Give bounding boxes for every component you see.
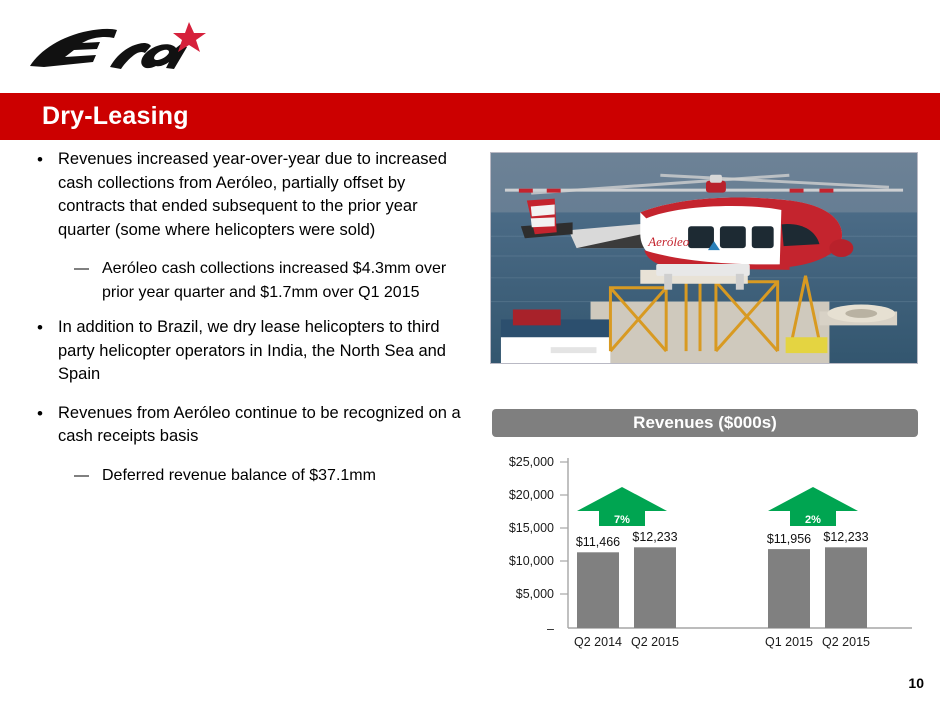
- growth-arrow-label: 2%: [805, 514, 821, 526]
- chart-plot-area: $25,000 $20,000 $15,000 $10,000 $5,000 –: [492, 443, 918, 671]
- y-tick-label: $5,000: [516, 587, 554, 601]
- x-tick-label: Q2 2015: [631, 635, 679, 649]
- y-tick-label: $10,000: [509, 554, 554, 568]
- bar-value-label: $11,466: [576, 535, 620, 549]
- bullet-marker: •: [32, 402, 58, 449]
- growth-arrow-label: 7%: [614, 514, 630, 526]
- list-item: • Revenues increased year-over-year due …: [32, 148, 472, 242]
- bar: [577, 552, 619, 628]
- x-tick-label: Q2 2015: [822, 635, 870, 649]
- bullet-marker: •: [32, 316, 58, 387]
- svg-text:Aeróleo: Aeróleo: [647, 235, 689, 249]
- y-tick-label: $15,000: [509, 521, 554, 535]
- list-item: — Deferred revenue balance of $37.1mm: [74, 464, 472, 488]
- bar-value-label: $12,233: [823, 530, 868, 544]
- bullet-text: In addition to Brazil, we dry lease heli…: [58, 316, 472, 387]
- bar: [825, 547, 867, 628]
- bullet-marker: —: [74, 464, 102, 488]
- bullet-text: Revenues increased year-over-year due to…: [58, 148, 472, 242]
- bullet-marker: •: [32, 148, 58, 242]
- bar-value-label: $11,956: [767, 532, 811, 546]
- list-item: • Revenues from Aeróleo continue to be r…: [32, 402, 472, 449]
- chart-title-bar: Revenues ($000s): [492, 409, 918, 437]
- bullet-list: • Revenues increased year-over-year due …: [32, 148, 472, 499]
- y-tick-label: $20,000: [509, 488, 554, 502]
- page-number: 10: [908, 675, 924, 691]
- svg-text:N339MS: N339MS: [704, 207, 750, 219]
- growth-arrow-2: 2%: [768, 487, 858, 526]
- bar-value-labels: $11,466 $12,233 $11,956 $12,233: [576, 530, 869, 549]
- bullet-text: Revenues from Aeróleo continue to be rec…: [58, 402, 472, 449]
- helicopter-offshore-photo: N339MS Aeróleo: [490, 152, 918, 364]
- list-item: • In addition to Brazil, we dry lease he…: [32, 316, 472, 387]
- revenues-chart: Revenues ($000s) $25,000 $20,000 $15,000…: [492, 409, 918, 671]
- list-item: — Aeróleo cash collections increased $4.…: [74, 257, 472, 304]
- slide-title-banner: Dry-Leasing: [0, 93, 940, 140]
- bar: [634, 547, 676, 628]
- y-tick-label: $25,000: [509, 455, 554, 469]
- bullet-marker: —: [74, 257, 102, 304]
- page-title: Dry-Leasing: [42, 102, 189, 131]
- x-tick-label: Q2 2014: [574, 635, 622, 649]
- bullet-text: Aeróleo cash collections increased $4.3m…: [102, 257, 472, 304]
- bullet-text: Deferred revenue balance of $37.1mm: [102, 464, 472, 488]
- era-logo: [18, 14, 218, 80]
- bar-series: [577, 547, 867, 628]
- y-axis: $25,000 $20,000 $15,000 $10,000 $5,000 –: [509, 455, 554, 636]
- chart-title: Revenues ($000s): [633, 413, 777, 433]
- x-axis: Q2 2014 Q2 2015 Q1 2015 Q2 2015: [574, 635, 870, 649]
- y-tick-label: –: [547, 622, 554, 636]
- bar-value-label: $12,233: [632, 530, 677, 544]
- era-wordmark: [30, 29, 187, 69]
- bar: [768, 549, 810, 628]
- growth-arrow-1: 7%: [577, 487, 667, 526]
- x-tick-label: Q1 2015: [765, 635, 813, 649]
- y-axis-ticks: [560, 462, 568, 594]
